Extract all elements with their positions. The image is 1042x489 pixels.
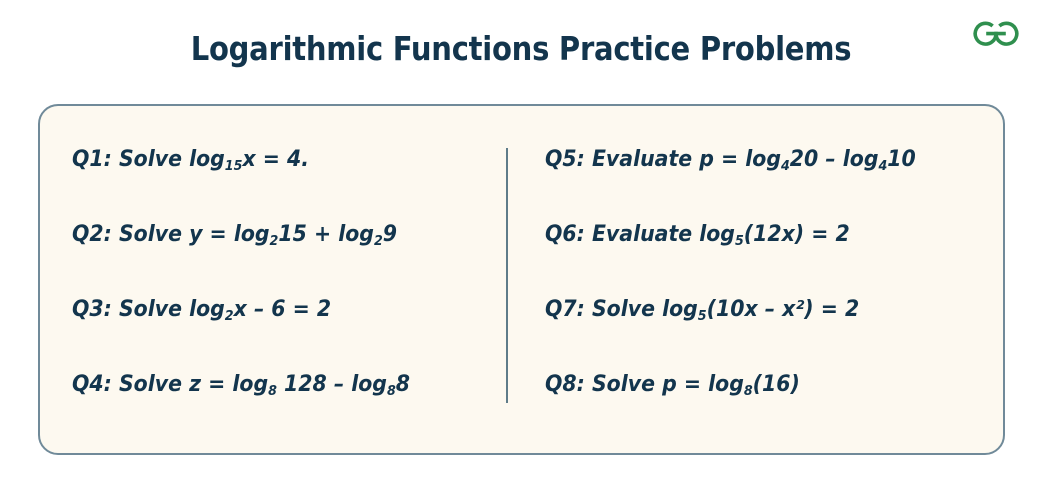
question-item-q3: Q3: Solve log2x – 6 = 2 bbox=[72, 297, 463, 323]
question-subscript-q5-a: 4 bbox=[781, 158, 790, 174]
question-item-q5: Q5: Evaluate p = log420 – log410 bbox=[545, 147, 959, 173]
question-label-q4: Q4: bbox=[72, 372, 112, 397]
question-subscript-q4-b: 8 bbox=[387, 383, 396, 399]
question-text-q6-after: (12x) = 2 bbox=[744, 222, 850, 247]
question-subscript-q1: 15 bbox=[225, 158, 243, 174]
question-item-q2: Q2: Solve y = log215 + log29 bbox=[72, 222, 463, 248]
question-text-q5-mid: 20 – log bbox=[790, 147, 879, 172]
question-text-q6-before: Evaluate log bbox=[592, 222, 735, 247]
question-item-q4: Q4: Solve z = log8 128 – log88 bbox=[72, 372, 463, 398]
question-text-q7-before: Solve log bbox=[592, 297, 698, 322]
question-label-q6: Q6: bbox=[545, 222, 585, 247]
question-text-q4-before: Solve z = log bbox=[119, 372, 268, 397]
question-text-q5-after: 10 bbox=[887, 147, 915, 172]
question-text-q2-before: Solve y = log bbox=[119, 222, 270, 247]
question-subscript-q5-b: 4 bbox=[878, 158, 887, 174]
page-header: Logarithmic Functions Practice Problems bbox=[0, 0, 1042, 104]
question-label-q1: Q1: bbox=[72, 147, 112, 172]
question-label-q7: Q7: bbox=[545, 297, 585, 322]
questions-card: Q1: Solve log15x = 4. Q2: Solve y = log2… bbox=[38, 104, 1005, 455]
question-text-q2-mid: 15 + log bbox=[278, 222, 374, 247]
question-text-q1-before: Solve log bbox=[119, 147, 225, 172]
question-text-q7-after: (10x – x²) = 2 bbox=[707, 297, 860, 322]
question-label-q5: Q5: bbox=[545, 147, 585, 172]
question-text-q5-before: Evaluate p = log bbox=[592, 147, 781, 172]
page-title: Logarithmic Functions Practice Problems bbox=[63, 29, 980, 68]
question-text-q4-mid: 128 – log bbox=[277, 372, 387, 397]
question-subscript-q2-a: 2 bbox=[270, 233, 279, 249]
question-item-q1: Q1: Solve log15x = 4. bbox=[72, 147, 463, 173]
question-text-q3-after: x – 6 = 2 bbox=[234, 297, 332, 322]
question-label-q3: Q3: bbox=[72, 297, 112, 322]
question-subscript-q7: 5 bbox=[698, 308, 707, 324]
question-item-q8: Q8: Solve p = log8(16) bbox=[545, 372, 959, 398]
question-subscript-q2-b: 2 bbox=[374, 233, 383, 249]
question-subscript-q6: 5 bbox=[735, 233, 744, 249]
question-subscript-q8: 8 bbox=[744, 383, 753, 399]
question-item-q6: Q6: Evaluate log5(12x) = 2 bbox=[545, 222, 959, 248]
question-text-q2-after: 9 bbox=[383, 222, 397, 247]
geeksforgeeks-logo bbox=[967, 14, 1025, 52]
question-text-q3-before: Solve log bbox=[119, 297, 225, 322]
question-item-q7: Q7: Solve log5(10x – x²) = 2 bbox=[545, 297, 959, 323]
column-divider bbox=[506, 148, 508, 403]
questions-column-left: Q1: Solve log15x = 4. Q2: Solve y = log2… bbox=[72, 106, 492, 453]
question-subscript-q3: 2 bbox=[225, 308, 234, 324]
question-text-q4-after: 8 bbox=[396, 372, 410, 397]
question-subscript-q4-a: 8 bbox=[268, 383, 277, 399]
question-label-q2: Q2: bbox=[72, 222, 112, 247]
question-label-q8: Q8: bbox=[545, 372, 585, 397]
question-text-q8-before: Solve p = log bbox=[592, 372, 744, 397]
question-text-q8-after: (16) bbox=[753, 372, 800, 397]
questions-column-right: Q5: Evaluate p = log420 – log410 Q6: Eva… bbox=[545, 106, 990, 453]
question-text-q1-after: x = 4. bbox=[242, 147, 309, 172]
